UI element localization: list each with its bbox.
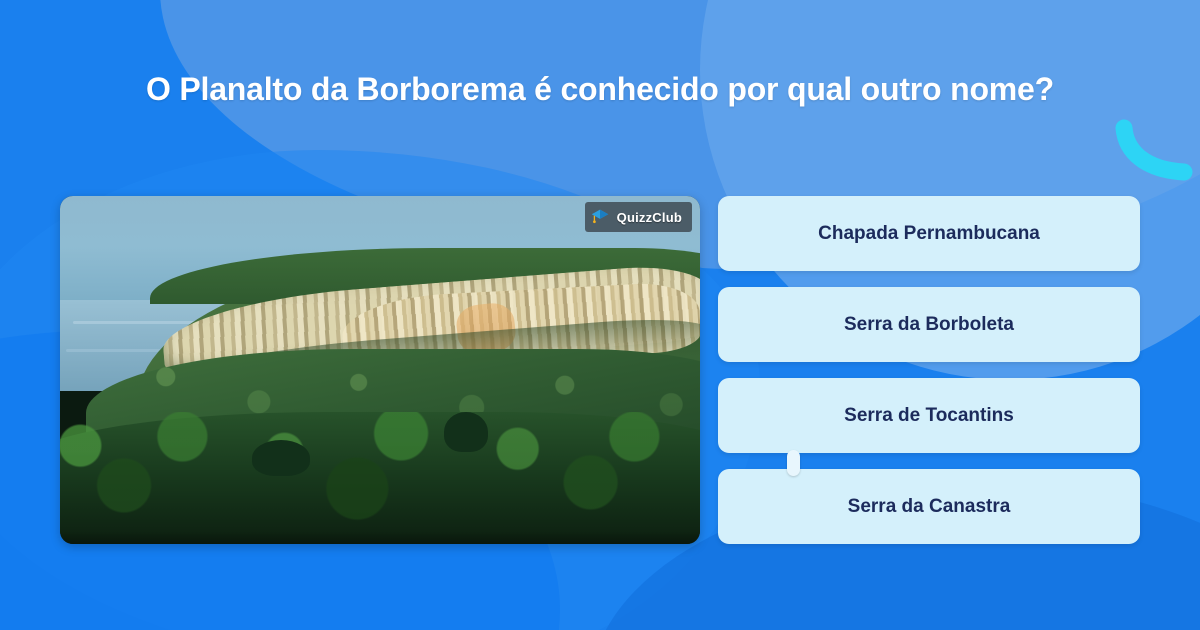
- question-title: O Planalto da Borborema é conhecido por …: [60, 70, 1140, 108]
- watermark: QuizzClub: [585, 202, 692, 232]
- answer-option-3[interactable]: Serra de Tocantins: [718, 378, 1140, 453]
- answer-option-label: Serra de Tocantins: [844, 405, 1014, 427]
- answer-option-label: Chapada Pernambucana: [818, 223, 1040, 245]
- foreground-canopy: [60, 412, 700, 544]
- cyan-swoosh-icon: [1112, 118, 1198, 184]
- tree-tuft: [252, 440, 310, 476]
- plateau-photo: [60, 196, 700, 544]
- graduation-cap-icon: [589, 206, 611, 228]
- answer-option-label: Serra da Borboleta: [844, 314, 1014, 336]
- scrollbar-thumb[interactable]: [787, 450, 800, 476]
- answer-option-4[interactable]: Serra da Canastra: [718, 469, 1140, 544]
- answer-options-list: Chapada Pernambucana Serra da Borboleta …: [718, 196, 1140, 544]
- watermark-brand: QuizzClub: [617, 210, 682, 225]
- quiz-card: O Planalto da Borborema é conhecido por …: [0, 0, 1200, 630]
- canopy-vignette: [60, 531, 700, 544]
- answer-option-1[interactable]: Chapada Pernambucana: [718, 196, 1140, 271]
- answer-option-2[interactable]: Serra da Borboleta: [718, 287, 1140, 362]
- canopy-texture: [60, 412, 700, 544]
- answer-option-label: Serra da Canastra: [848, 496, 1011, 518]
- question-image-card: QuizzClub: [60, 196, 700, 544]
- tree-tuft: [444, 412, 488, 452]
